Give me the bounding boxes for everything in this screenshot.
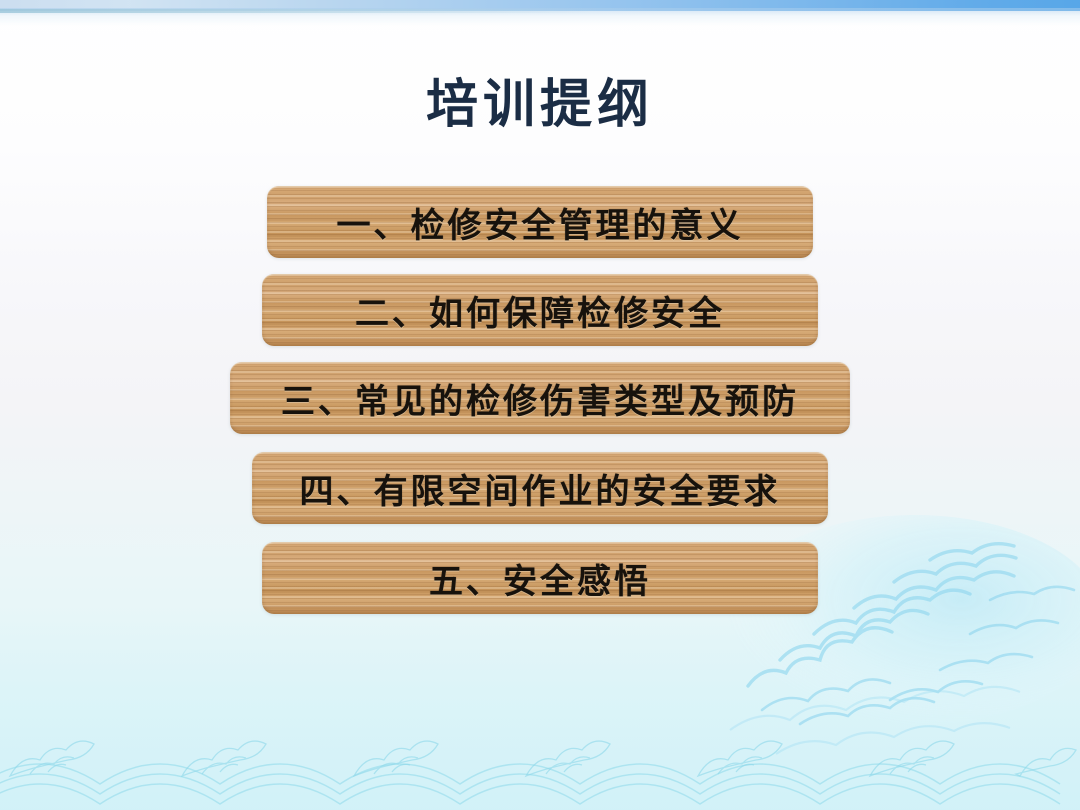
outline-row-1: 一、检修安全管理的意义 <box>0 186 1080 258</box>
outline-row-2: 二、如何保障检修安全 <box>0 274 1080 346</box>
outline-item-4-label: 四、有限空间作业的安全要求 <box>300 464 781 513</box>
outline-item-2[interactable]: 二、如何保障检修安全 <box>262 274 818 346</box>
outline-item-3[interactable]: 三、常见的检修伤害类型及预防 <box>230 362 850 434</box>
outline-item-3-label: 三、常见的检修伤害类型及预防 <box>281 374 799 423</box>
wave-pattern-icon <box>0 680 1080 810</box>
bottom-tint-overlay <box>0 610 1080 810</box>
outline-list: 一、检修安全管理的意义 二、如何保障检修安全 三、常见的检修伤害类型及预防 四、… <box>0 186 1080 630</box>
slide-title: 培训提纲 <box>0 62 1080 137</box>
outline-item-5-label: 五、安全感悟 <box>429 554 651 603</box>
outline-row-3: 三、常见的检修伤害类型及预防 <box>0 362 1080 434</box>
presentation-slide: 培训提纲 一、检修安全管理的意义 二、如何保障检修安全 三、常见的检修伤害类型及… <box>0 0 1080 810</box>
outline-item-2-label: 二、如何保障检修安全 <box>355 286 725 335</box>
outline-row-5: 五、安全感悟 <box>0 542 1080 614</box>
outline-item-5[interactable]: 五、安全感悟 <box>262 542 818 614</box>
outline-row-4: 四、有限空间作业的安全要求 <box>0 452 1080 524</box>
outline-item-4[interactable]: 四、有限空间作业的安全要求 <box>252 452 828 524</box>
top-band-streak <box>0 9 600 13</box>
outline-item-1-label: 一、检修安全管理的意义 <box>337 198 744 247</box>
outline-item-1[interactable]: 一、检修安全管理的意义 <box>267 186 813 258</box>
